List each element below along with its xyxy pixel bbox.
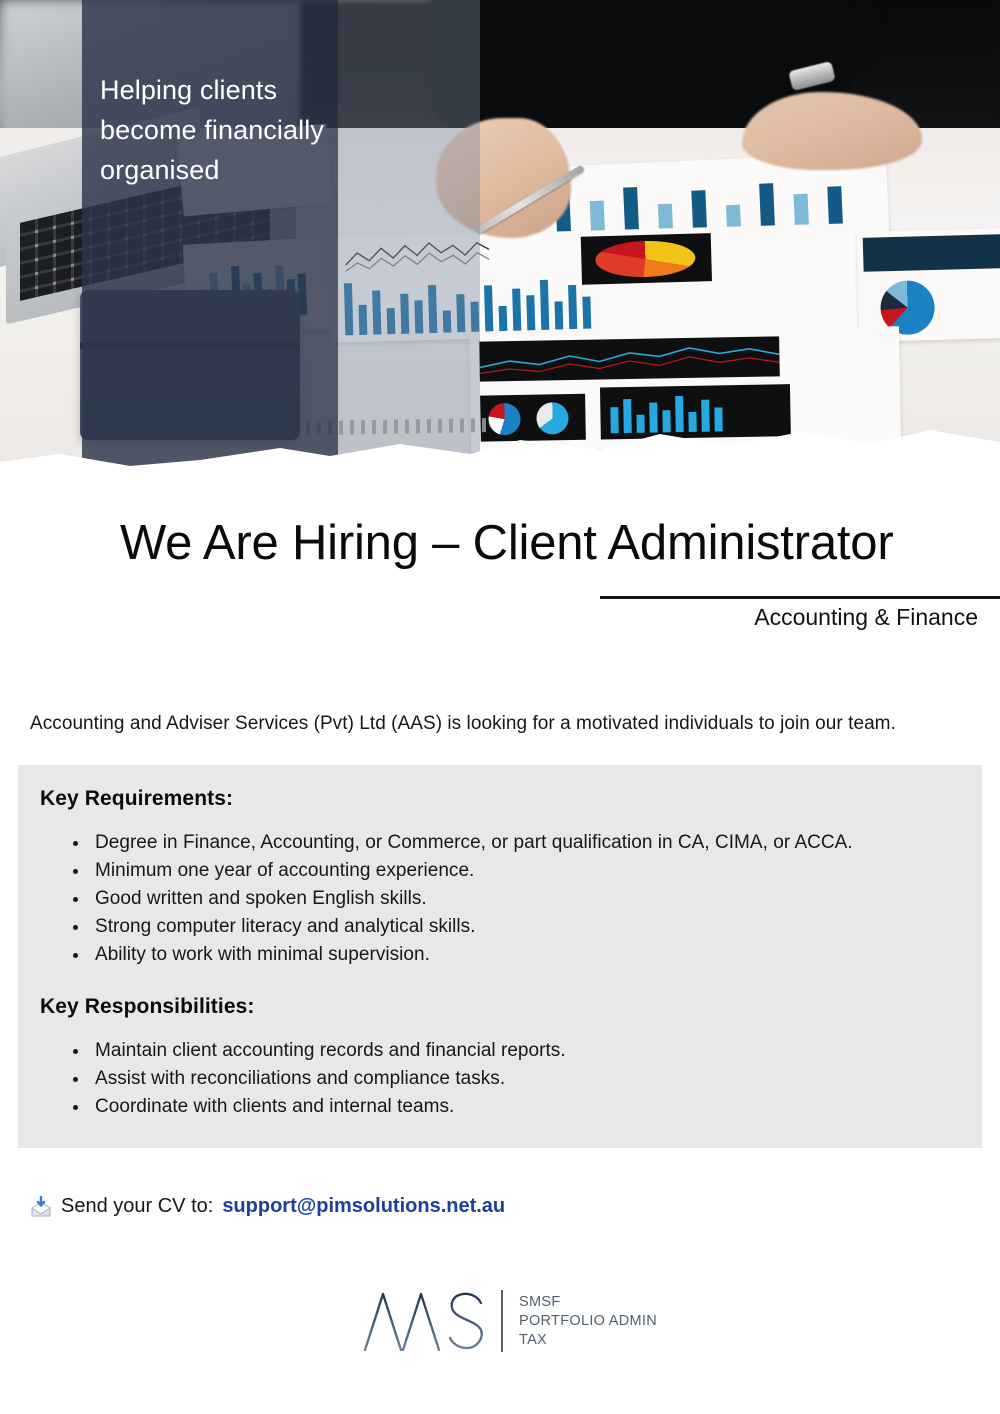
logo-divider [501,1290,503,1352]
area-chart [863,234,1000,272]
list-item: Assist with reconciliations and complian… [90,1065,954,1093]
heatmap-chart [581,233,712,285]
inbox-tray-icon [30,1196,52,1218]
responsibilities-heading: Key Responsibilities: [40,995,954,1019]
list-item: Minimum one year of accounting experienc… [90,857,954,885]
requirements-heading: Key Requirements: [40,787,954,811]
logo-line-portfolio: PORTFOLIO ADMIN [519,1312,657,1331]
logo-taglines: SMSF PORTFOLIO ADMIN TAX [519,1293,657,1350]
details-panel: Key Requirements: Degree in Finance, Acc… [18,765,982,1148]
aas-wordmark [363,1288,491,1354]
hero-tagline: Helping clients become financially organ… [100,70,350,190]
title-underline [600,596,1000,599]
intro-paragraph: Accounting and Adviser Services (Pvt) Lt… [30,713,896,735]
paper-sheet [857,228,1000,342]
torn-paper-edge [0,404,1000,484]
page-subtitle: Accounting & Finance [754,604,978,631]
list-item: Coordinate with clients and internal tea… [90,1093,954,1121]
line-chart-dark [479,336,780,381]
responsibilities-list: Maintain client accounting records and f… [40,1037,954,1121]
logo-line-tax: TAX [519,1331,657,1350]
list-item: Ability to work with minimal supervision… [90,941,954,969]
requirements-list: Degree in Finance, Accounting, or Commer… [40,829,954,969]
hero-banner: Helping clients become financially organ… [0,0,1000,484]
contact-email-link[interactable]: support@pimsolutions.net.au [222,1195,505,1218]
contact-label: Send your CV to: [61,1195,213,1218]
logo-line-smsf: SMSF [519,1293,657,1312]
list-item: Good written and spoken English skills. [90,885,954,913]
company-logo: SMSF PORTFOLIO ADMIN TAX [363,1288,657,1354]
contact-line: Send your CV to: support@pimsolutions.ne… [30,1195,505,1218]
list-item: Degree in Finance, Accounting, or Commer… [90,829,954,857]
title-block: We Are Hiring – Client Administrator Acc… [0,512,1000,574]
list-item: Strong computer literacy and analytical … [90,913,954,941]
page-title: We Are Hiring – Client Administrator [0,512,1000,574]
list-item: Maintain client accounting records and f… [90,1037,954,1065]
